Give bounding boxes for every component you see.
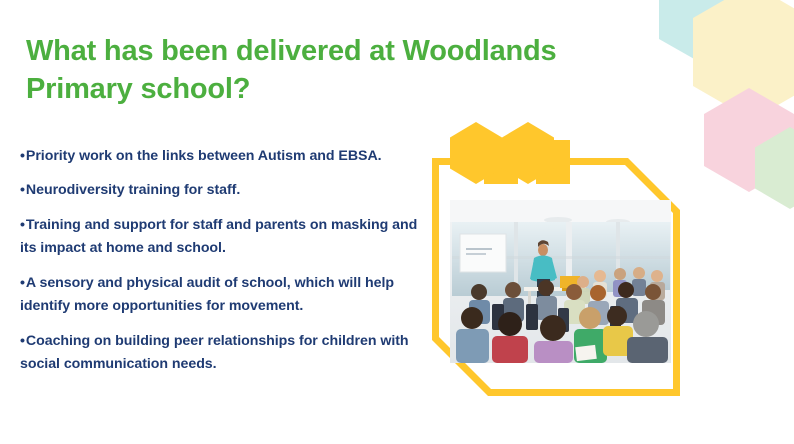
hexagon-cyan-icon [659, 0, 747, 64]
hexagon-pink-icon [704, 88, 794, 192]
list-item: A sensory and physical audit of school, … [20, 272, 420, 319]
hexagon-green-icon [755, 127, 794, 209]
list-item: Training and support for staff and paren… [20, 214, 420, 261]
seminar-photo-illustration [450, 200, 671, 363]
slide-canvas: What has been delivered at Woodlands Pri… [0, 0, 794, 444]
list-item: Neurodiversity training for staff. [20, 179, 420, 202]
list-item: Coaching on building peer relationships … [20, 330, 420, 377]
slide-title: What has been delivered at Woodlands Pri… [26, 32, 666, 109]
bullet-list: Priority work on the links between Autis… [20, 145, 420, 387]
seminar-photo [450, 200, 671, 363]
list-item: Priority work on the links between Autis… [20, 145, 420, 168]
hexagon-cream-icon [693, 0, 794, 120]
